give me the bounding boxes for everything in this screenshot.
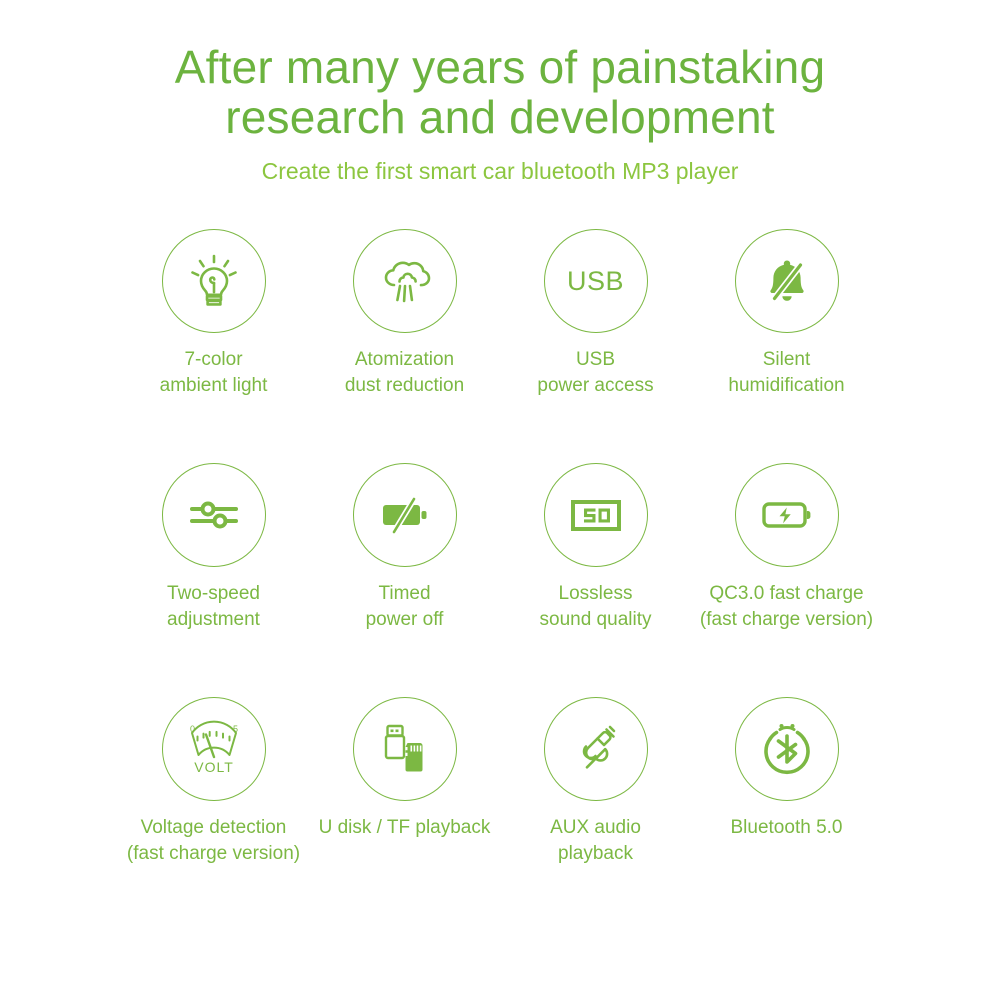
feature-icon-circle [544, 463, 648, 567]
sq-badge-icon [565, 484, 627, 546]
feature-label: U disk / TF playback [319, 815, 491, 841]
feature-item-silent: Silent humidification [691, 229, 882, 441]
page-title-line1: After many years of painstaking [175, 41, 826, 93]
feature-item-ambient-light: 7-color ambient light [118, 229, 309, 441]
feature-icon-circle: 0 5 VOLT [162, 697, 266, 801]
feature-label-line1: Two-speed [167, 583, 260, 604]
usb-text-icon: USB [567, 266, 624, 297]
feature-label-line1: Timed [378, 583, 430, 604]
feature-label-line2: power access [537, 373, 653, 399]
feature-icon-circle: USB [544, 229, 648, 333]
feature-item-lossless: Lossless sound quality [500, 463, 691, 675]
battery-slash-icon [374, 484, 436, 546]
bell-muted-icon [757, 251, 817, 311]
feature-label-line2: (fast charge version) [700, 607, 873, 633]
feature-label: Atomization dust reduction [345, 347, 464, 399]
feature-label-line2: dust reduction [345, 373, 464, 399]
feature-icon-circle [735, 463, 839, 567]
feature-label-line1: U disk / TF playback [319, 817, 491, 838]
feature-label-line1: Bluetooth 5.0 [731, 817, 843, 838]
feature-label-line1: Atomization [355, 349, 454, 370]
feature-item-atomization: Atomization dust reduction [309, 229, 500, 441]
page-title: After many years of painstaking research… [0, 42, 1000, 142]
bluetooth-ring-icon [756, 718, 818, 780]
voltmeter-gauge-icon: 0 5 VOLT [181, 719, 247, 779]
feature-label: AUX audio playback [550, 815, 641, 867]
feature-icon-circle [735, 229, 839, 333]
feature-icon-circle [353, 697, 457, 801]
feature-label: Silent humidification [728, 347, 844, 399]
aux-audio-plug-icon [565, 718, 627, 780]
feature-label: Two-speed adjustment [167, 581, 260, 633]
battery-bolt-icon [756, 484, 818, 546]
feature-label-line2: sound quality [540, 607, 652, 633]
page-subtitle: Create the first smart car bluetooth MP3… [0, 158, 1000, 185]
svg-text:5: 5 [233, 724, 238, 734]
feature-icon-circle [735, 697, 839, 801]
feature-label-line1: QC3.0 fast charge [709, 583, 863, 604]
feature-label-line2: power off [366, 607, 444, 633]
feature-icon-circle [162, 229, 266, 333]
feature-item-aux-audio: AUX audio playback [500, 697, 691, 909]
feature-item-udisk-tf: U disk / TF playback [309, 697, 500, 909]
feature-label: USB power access [537, 347, 653, 399]
feature-label: 7-color ambient light [160, 347, 268, 399]
feature-label-line1: Lossless [559, 583, 633, 604]
feature-label-line2: adjustment [167, 607, 260, 633]
feature-label: Voltage detection (fast charge version) [127, 815, 300, 867]
feature-label: Timed power off [366, 581, 444, 633]
feature-label-line1: Voltage detection [141, 817, 287, 838]
sliders-icon [183, 484, 245, 546]
feature-label: Lossless sound quality [540, 581, 652, 633]
feature-label-line2: (fast charge version) [127, 841, 300, 867]
feature-label-line1: USB [576, 349, 615, 370]
feature-icon-circle [353, 463, 457, 567]
lightbulb-rays-icon [183, 250, 245, 312]
feature-label-line2: ambient light [160, 373, 268, 399]
page-header: After many years of painstaking research… [0, 0, 1000, 185]
feature-item-timed-power-off: Timed power off [309, 463, 500, 675]
svg-text:0: 0 [190, 724, 195, 734]
feature-label-line1: Silent [763, 349, 811, 370]
feature-label-line2: humidification [728, 373, 844, 399]
svg-text:VOLT: VOLT [194, 759, 234, 775]
page-title-line2: research and development [90, 92, 910, 142]
usb-drive-sdcard-icon [374, 718, 436, 780]
feature-item-two-speed: Two-speed adjustment [118, 463, 309, 675]
feature-label-line1: 7-color [184, 349, 242, 370]
feature-label-line1: AUX audio [550, 817, 641, 838]
feature-item-bluetooth: Bluetooth 5.0 [691, 697, 882, 909]
feature-icon-circle [353, 229, 457, 333]
feature-label: Bluetooth 5.0 [731, 815, 843, 841]
feature-grid: 7-color ambient light Atomization dust r… [0, 229, 1000, 909]
atomizing-mist-cloud-icon [374, 250, 436, 312]
feature-item-voltage-detection: 0 5 VOLT Voltage detection (fast charge … [118, 697, 309, 909]
feature-label-line2: playback [550, 841, 641, 867]
feature-highlight-page: After many years of painstaking research… [0, 0, 1000, 1000]
feature-icon-circle [162, 463, 266, 567]
feature-icon-circle [544, 697, 648, 801]
feature-item-qc3-fast-charge: QC3.0 fast charge (fast charge version) [691, 463, 882, 675]
feature-item-usb-power: USB USB power access [500, 229, 691, 441]
feature-label: QC3.0 fast charge (fast charge version) [700, 581, 873, 633]
